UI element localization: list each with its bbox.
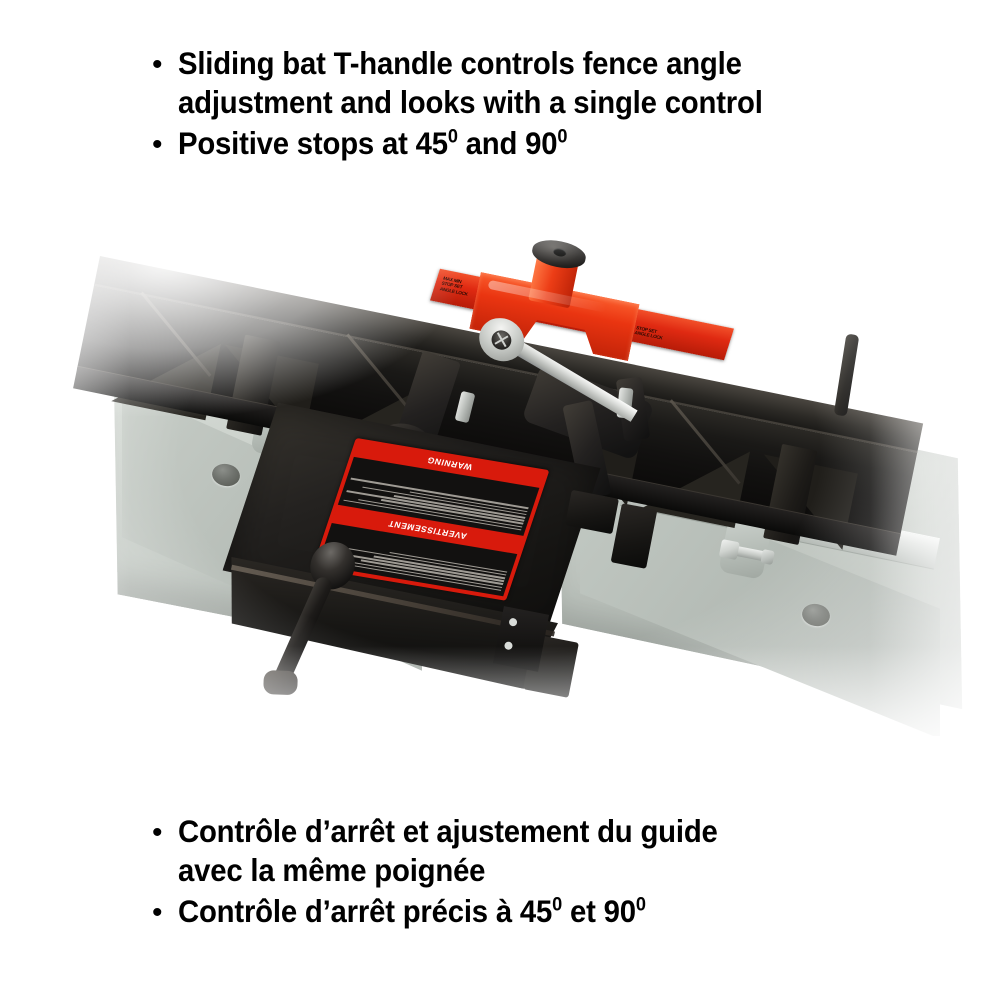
bullet-dot-icon: •: [152, 812, 178, 853]
english-bullet-item-2: • Positive stops at 450 and 900: [152, 124, 872, 165]
scale-micro-text: MAX MIN STOP SET ANGLE LOCK: [439, 276, 472, 297]
lever-foot: [263, 670, 298, 695]
english-bullet-text-1: Sliding bat T-handle controls fence angl…: [178, 44, 823, 122]
chip-deflector-rod: [834, 333, 860, 416]
mounting-hole: [508, 617, 517, 626]
jointer-fence-assembly: MAX MIN STOP SET ANGLE LOCK STOP SET ANG…: [60, 206, 960, 726]
degree-symbol-90-fr: 0: [636, 894, 646, 916]
bullet-dot-icon: •: [152, 44, 178, 85]
french-bullet-item-1: • Contrôle d’arrêt et ajustement du guid…: [152, 812, 872, 890]
french-bullet-text-2: Contrôle d’arrêt précis à 450 et 900: [178, 892, 823, 931]
product-photo: MAX MIN STOP SET ANGLE LOCK STOP SET ANG…: [0, 196, 1000, 736]
mounting-hole: [504, 641, 513, 650]
english-stops-mid: and 90: [458, 125, 558, 161]
english-bullet-text-2: Positive stops at 450 and 900: [178, 124, 823, 163]
english-stops-prefix: Positive stops at 45: [178, 125, 448, 161]
french-stops-prefix: Contrôle d’arrêt précis à 45: [178, 893, 552, 929]
degree-symbol-45: 0: [448, 126, 458, 148]
scale-micro-text: STOP SET ANGLE LOCK: [634, 325, 665, 341]
french-callout-block: • Contrôle d’arrêt et ajustement du guid…: [152, 812, 872, 935]
product-feature-page: • Sliding bat T-handle controls fence an…: [0, 0, 1000, 1000]
french-bullet-text-1: Contrôle d’arrêt et ajustement du guide …: [178, 812, 823, 890]
degree-symbol-90: 0: [557, 126, 567, 148]
english-callout-block: • Sliding bat T-handle controls fence an…: [152, 44, 872, 167]
bullet-dot-icon: •: [152, 892, 178, 933]
french-stops-mid: et 90: [562, 893, 636, 929]
english-bullet-item-1: • Sliding bat T-handle controls fence an…: [152, 44, 872, 122]
photo-inner: MAX MIN STOP SET ANGLE LOCK STOP SET ANG…: [0, 196, 1000, 736]
degree-symbol-45-fr: 0: [552, 894, 562, 916]
french-bullet-item-2: • Contrôle d’arrêt précis à 450 et 900: [152, 892, 872, 933]
bullet-dot-icon: •: [152, 124, 178, 165]
